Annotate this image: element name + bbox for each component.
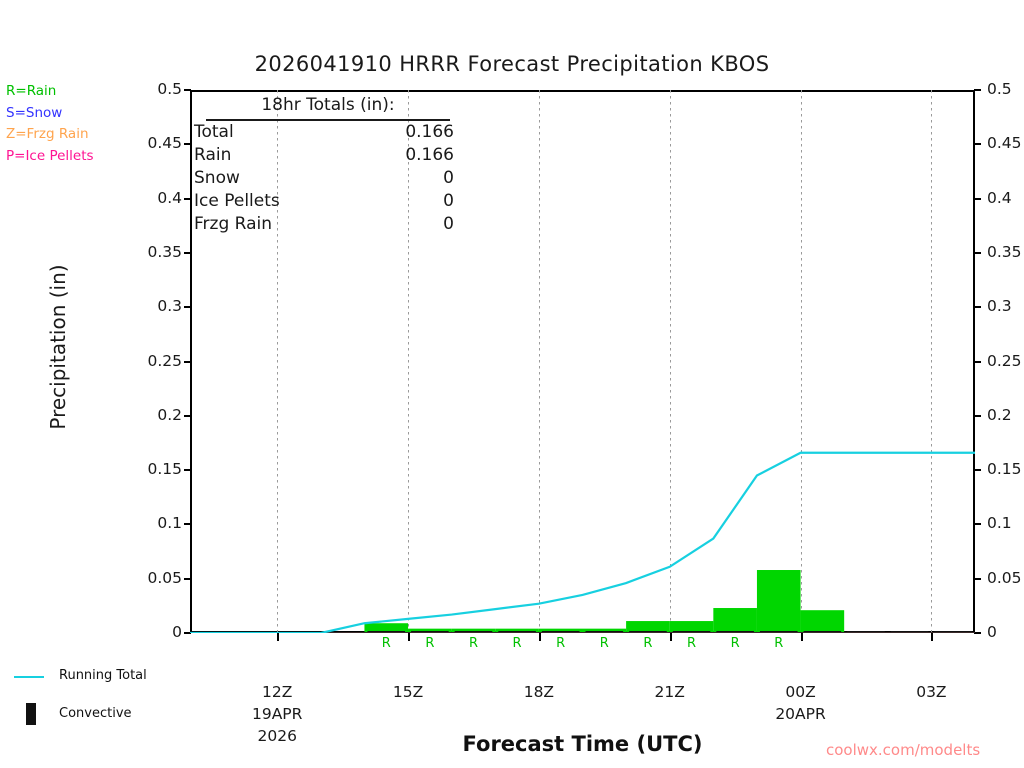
x-tick-label: 15Z xyxy=(368,683,448,701)
y-tick-mark-right xyxy=(974,578,981,580)
y-tick-mark-right xyxy=(974,361,981,363)
totals-row-value: 0.166 xyxy=(405,121,454,144)
y-tick-label-left: 0.5 xyxy=(132,80,182,98)
y-tick-label-left: 0.45 xyxy=(132,134,182,152)
y-tick-mark-right xyxy=(974,89,981,91)
precip-type-marker-row: RRRRRRRRRR xyxy=(190,636,975,656)
y-tick-label-left: 0.25 xyxy=(132,352,182,370)
y-tick-label-left: 0.3 xyxy=(132,297,182,315)
totals-row-label: Snow xyxy=(194,167,240,190)
totals-box: 18hr Totals (in):Total0.166Rain0.166Snow… xyxy=(192,92,464,236)
totals-row-value: 0 xyxy=(443,213,454,236)
y-tick-mark-right xyxy=(974,415,981,417)
running-total-line-swatch xyxy=(14,676,44,678)
totals-row: Ice Pellets0 xyxy=(192,190,464,213)
totals-row: Rain0.166 xyxy=(192,144,464,167)
legend-rain: R=Rain xyxy=(6,81,94,103)
y-tick-label-right: 0.25 xyxy=(987,352,1022,370)
totals-row-label: Total xyxy=(194,121,234,144)
y-tick-mark-right xyxy=(974,523,981,525)
totals-row: Frzg Rain0 xyxy=(192,213,464,236)
x-tick-year-label: 2026 xyxy=(232,727,322,745)
y-tick-label-right: 0.4 xyxy=(987,189,1012,207)
y-tick-label-left: 0.1 xyxy=(132,514,182,532)
running-total-label: Running Total xyxy=(59,668,147,683)
precip-type-marker: R xyxy=(643,636,652,651)
precip-type-marker: R xyxy=(382,636,391,651)
precip-type-marker: R xyxy=(774,636,783,651)
precip-type-marker: R xyxy=(469,636,478,651)
totals-row-label: Rain xyxy=(194,144,231,167)
legend-snow: S=Snow xyxy=(6,103,94,125)
totals-row-value: 0.166 xyxy=(405,144,454,167)
legend-ice-pellets: P=Ice Pellets xyxy=(6,146,94,168)
y-tick-label-right: 0 xyxy=(987,623,997,641)
totals-row-value: 0 xyxy=(443,167,454,190)
y-tick-label-right: 0.2 xyxy=(987,406,1012,424)
x-tick-label: 00Z xyxy=(761,683,841,701)
x-tick-label: 12Z xyxy=(237,683,317,701)
y-tick-mark-right xyxy=(974,632,981,634)
totals-row: Total0.166 xyxy=(192,121,464,144)
precip-bar xyxy=(713,608,757,633)
x-tick-date-label: 19APR xyxy=(232,705,322,723)
y-axis-title: Precipitation (in) xyxy=(46,227,70,467)
y-tick-mark-right xyxy=(974,198,981,200)
y-tick-label-left: 0.4 xyxy=(132,189,182,207)
precip-bar xyxy=(801,610,845,633)
y-tick-mark-right xyxy=(974,469,981,471)
y-tick-label-left: 0.2 xyxy=(132,406,182,424)
x-tick-label: 03Z xyxy=(891,683,971,701)
y-tick-mark-right xyxy=(974,306,981,308)
y-tick-mark-right xyxy=(974,143,981,145)
y-tick-label-right: 0.45 xyxy=(987,134,1022,152)
precip-type-marker: R xyxy=(731,636,740,651)
y-tick-label-left: 0.05 xyxy=(132,569,182,587)
chart-title: 2026041910 HRRR Forecast Precipitation K… xyxy=(0,52,1024,76)
totals-row: Snow0 xyxy=(192,167,464,190)
y-tick-label-left: 0 xyxy=(132,623,182,641)
precip-type-marker: R xyxy=(556,636,565,651)
precip-phase-legend: R=Rain S=Snow Z=Frzg Rain P=Ice Pellets xyxy=(6,81,94,167)
totals-row-value: 0 xyxy=(443,190,454,213)
y-tick-label-right: 0.05 xyxy=(987,569,1022,587)
precipitation-meteogram: 2026041910 HRRR Forecast Precipitation K… xyxy=(0,0,1024,768)
x-tick-date-label: 20APR xyxy=(756,705,846,723)
x-tick-label: 21Z xyxy=(630,683,710,701)
y-tick-label-right: 0.3 xyxy=(987,297,1012,315)
y-tick-mark-right xyxy=(974,252,981,254)
y-tick-label-right: 0.15 xyxy=(987,460,1022,478)
precip-bar xyxy=(757,570,801,633)
y-tick-label-left: 0.15 xyxy=(132,460,182,478)
watermark: coolwx.com/modelts xyxy=(826,741,980,759)
x-tick-label: 18Z xyxy=(499,683,579,701)
y-tick-label-left: 0.35 xyxy=(132,243,182,261)
precip-type-marker: R xyxy=(600,636,609,651)
y-tick-label-right: 0.5 xyxy=(987,80,1012,98)
running-total-line xyxy=(190,453,975,633)
precip-type-marker: R xyxy=(687,636,696,651)
convective-bar-swatch xyxy=(26,703,36,725)
totals-box-header: 18hr Totals (in): xyxy=(206,94,450,121)
convective-label: Convective xyxy=(59,706,132,721)
precip-type-marker: R xyxy=(425,636,434,651)
legend-freezing-rain: Z=Frzg Rain xyxy=(6,124,94,146)
y-tick-label-right: 0.35 xyxy=(987,243,1022,261)
precip-type-marker: R xyxy=(513,636,522,651)
y-tick-label-right: 0.1 xyxy=(987,514,1012,532)
totals-row-label: Ice Pellets xyxy=(194,190,280,213)
totals-row-label: Frzg Rain xyxy=(194,213,272,236)
